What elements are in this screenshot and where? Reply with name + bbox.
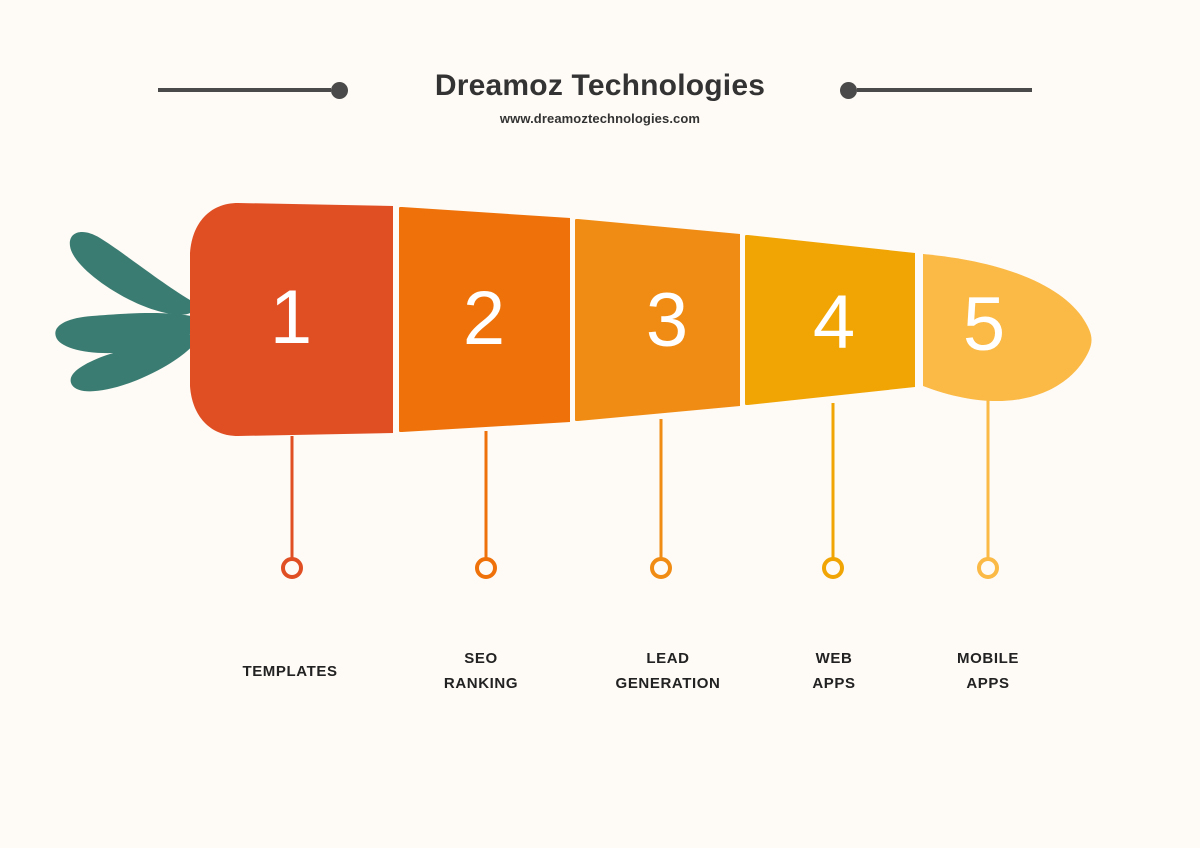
connector-1 (283, 436, 301, 577)
step-label-3-line1: LEAD (573, 646, 763, 671)
connector-4 (824, 403, 842, 577)
carrot-leaves-icon (55, 232, 196, 391)
step-label-1-line1: TEMPLATES (195, 659, 385, 684)
segment-number-3: 3 (627, 283, 707, 359)
step-label-2-line1: SEO (386, 646, 576, 671)
segment-number-2: 2 (444, 281, 524, 357)
step-label-3-line2: GENERATION (573, 671, 763, 696)
connector-2 (477, 431, 495, 577)
step-label-5-line2: APPS (893, 671, 1083, 696)
connector-marker-1[interactable] (283, 559, 301, 577)
connector-5 (979, 390, 997, 577)
connector-marker-3[interactable] (652, 559, 670, 577)
carrot-diagram-svg (0, 0, 1200, 848)
segment-number-1: 1 (251, 280, 331, 356)
connector-marker-5[interactable] (979, 559, 997, 577)
carrot-leaf-top-icon (70, 232, 192, 315)
step-label-5: MOBILE APPS (893, 646, 1083, 696)
connector-marker-4[interactable] (824, 559, 842, 577)
carrot-infographic: 1 2 3 4 5 TEMPLATES SEO RANKING LEAD GEN… (0, 0, 1200, 848)
step-label-1: TEMPLATES (195, 659, 385, 684)
connector-3 (652, 419, 670, 577)
step-label-2: SEO RANKING (386, 646, 576, 696)
step-label-5-line1: MOBILE (893, 646, 1083, 671)
step-label-2-line2: RANKING (386, 671, 576, 696)
segment-number-5: 5 (944, 287, 1024, 363)
connector-marker-2[interactable] (477, 559, 495, 577)
step-label-3: LEAD GENERATION (573, 646, 763, 696)
segment-number-4: 4 (794, 285, 874, 361)
